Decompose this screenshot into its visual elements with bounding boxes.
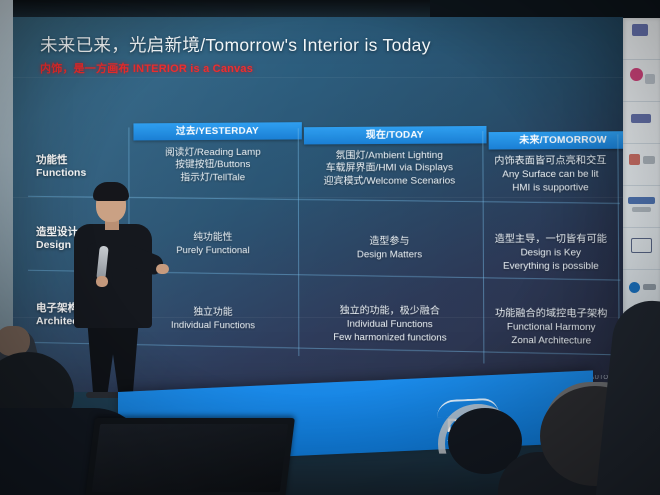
column-header-tomorrow-label: 未来/TOMORROW <box>519 134 607 146</box>
cell-architecture-today: 独立的功能，极少融合 Individual Functions Few harm… <box>300 305 480 344</box>
cell-line-2: 车载屏界面/HMI via Displays <box>300 162 479 175</box>
cell-line-2: Any Surface can be lit <box>486 168 616 181</box>
row-label-functions-cn: 功能性 <box>36 154 68 166</box>
stage-banner-text: 25 CH <box>186 416 284 456</box>
sponsor-logo-icon <box>644 325 656 332</box>
column-header-yesterday: 过去/YESTERDAY <box>133 122 301 140</box>
sponsor-logo-icon <box>631 114 651 123</box>
speaker-legs <box>84 324 142 396</box>
cell-line-1: 独立的功能，极少融合 <box>300 305 480 318</box>
sponsor-row <box>623 354 660 396</box>
cell-line-2: Design Matters <box>300 249 480 262</box>
cell-line-3: 迎宾模式/Welcome Scenarios <box>300 175 479 188</box>
speaker-suit <box>74 224 152 328</box>
cell-line-2: Individual Functions <box>300 318 480 332</box>
sponsor-logo-icon <box>630 68 643 81</box>
dvn-logo: DVN ...vision Ne... <box>420 397 516 444</box>
speaker-hand-holding-mic <box>96 276 108 287</box>
sponsor-row <box>623 270 660 312</box>
sponsor-row <box>623 18 660 60</box>
sponsor-mail-icon <box>629 323 642 334</box>
column-header-today-label: 现在/TODAY <box>366 129 424 141</box>
sponsor-logo-icon <box>643 284 656 290</box>
sponsor-logo-icon <box>632 207 651 212</box>
slide-subtitle: 内饰，是一方画布 INTERIOR is a Canvas <box>40 60 253 76</box>
column-header-tomorrow: 未来/TOMORROW <box>489 131 638 149</box>
row-label-functions-en: Functions <box>36 167 86 179</box>
sponsor-logo-icon <box>631 238 652 253</box>
sponsor-logo-icon <box>632 24 648 36</box>
cell-line-1: 造型参与 <box>300 236 480 249</box>
cell-architecture-tomorrow: 功能融合的域控电子架构 Functional Harmony Zonal Arc… <box>486 308 616 347</box>
column-header-yesterday-label: 过去/YESTERDAY <box>176 126 259 138</box>
grid-line-v3 <box>482 131 484 363</box>
sponsor-logo-icon <box>628 197 655 204</box>
cell-line-1: 造型主导，一切皆有可能 <box>486 234 616 247</box>
speaker-presenter <box>60 180 170 395</box>
sponsor-logo-icon <box>643 156 655 164</box>
sponsor-logo-icon <box>628 367 656 377</box>
left-wall-strip <box>0 0 13 380</box>
sponsor-row <box>623 60 660 102</box>
sponsor-row <box>623 228 660 270</box>
cell-line-3: Zonal Architecture <box>486 333 616 347</box>
conference-photo: 未来已来，光启新境/Tomorrow's Interior is Today 内… <box>0 0 660 495</box>
cell-functions-tomorrow: 内饰表面皆可点亮和交互 Any Surface can be lit HMI i… <box>486 155 616 194</box>
sponsor-logo-wall <box>623 18 660 390</box>
cell-line-1: 阅读灯/Reading Lamp <box>132 147 293 160</box>
cell-line-1: 功能融合的域控电子架构 <box>486 308 616 321</box>
speaker-hair <box>93 182 129 201</box>
sponsor-globe-icon <box>629 282 640 293</box>
cell-line-3: Few harmonized functions <box>300 330 480 344</box>
cell-design-tomorrow: 造型主导，一切皆有可能 Design is Key Everything is … <box>486 234 616 273</box>
cell-line-1: 内饰表面皆可点亮和交互 <box>486 155 616 168</box>
row-label-functions: 功能性 Functions <box>36 154 86 180</box>
sponsor-row <box>623 102 660 144</box>
screen-seam <box>13 77 623 78</box>
sponsor-logo-icon <box>629 154 640 165</box>
sponsor-row <box>623 312 660 354</box>
cell-line-2: 按键按钮/Buttons <box>132 159 293 172</box>
sponsor-row <box>623 186 660 228</box>
column-header-today: 现在/TODAY <box>304 126 487 145</box>
sponsor-logo-icon <box>645 74 655 84</box>
speaker-right-hand <box>156 264 169 274</box>
cell-line-2: Functional Harmony <box>486 321 616 335</box>
cell-functions-today: 氛围灯/Ambient Lighting 车载屏界面/HMI via Displ… <box>300 150 480 189</box>
cell-design-today: 造型参与 Design Matters <box>300 236 480 262</box>
cell-line-3: HMI is supportive <box>486 181 616 194</box>
cell-line-3: Everything is possible <box>486 259 616 272</box>
slide-title: 未来已来，光启新境/Tomorrow's Interior is Today <box>40 32 431 57</box>
cell-line-2: Design is Key <box>486 247 616 260</box>
sponsor-row <box>623 144 660 186</box>
